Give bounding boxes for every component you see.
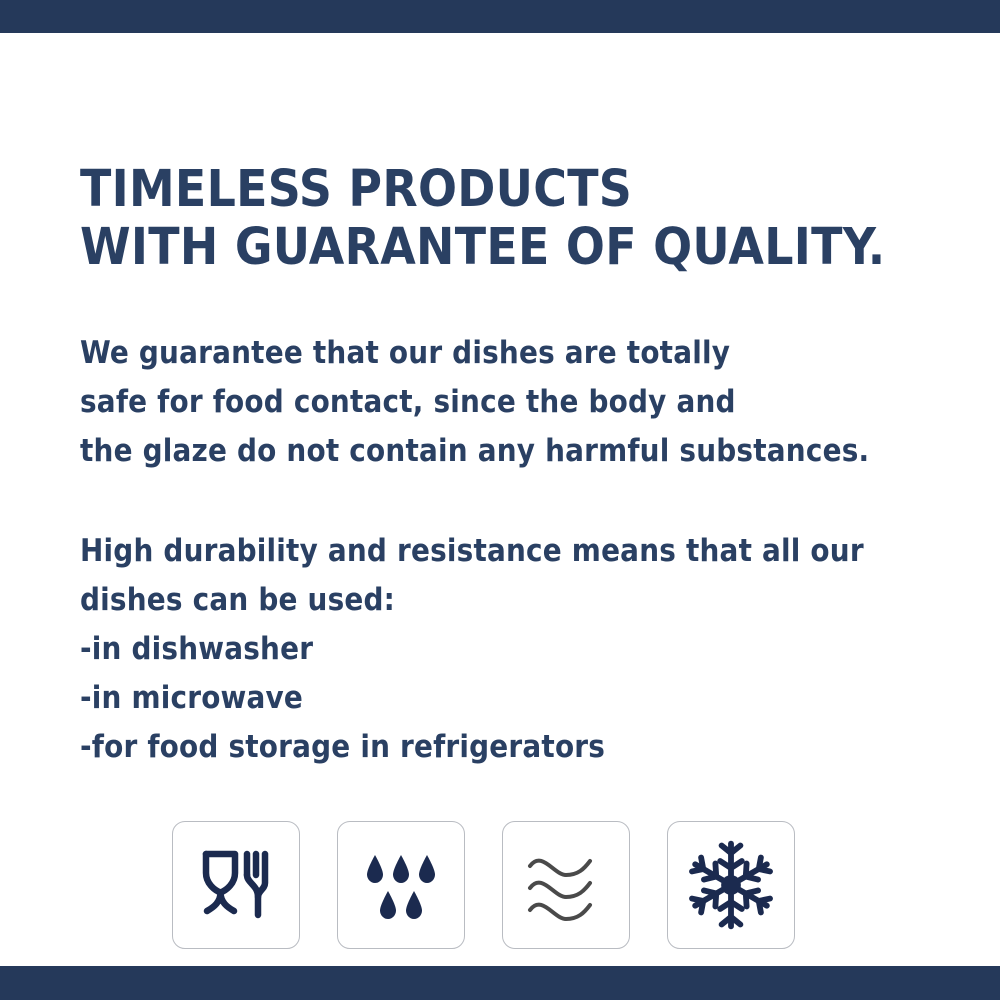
durability-paragraph: High durability and resistance means tha…	[80, 527, 864, 625]
dishwasher-safe-icon-box	[337, 821, 465, 949]
promo-page: TIMELESS PRODUCTS WITH GUARANTEE OF QUAL…	[0, 0, 1000, 1000]
dishwasher-safe-icon	[355, 839, 447, 931]
bottom-accent-bar	[0, 966, 1000, 1000]
freezer-safe-icon	[684, 838, 778, 932]
guarantee-paragraph-line-2: safe for food contact, since the body an…	[80, 378, 869, 427]
usage-list-item-microwave: -in microwave	[80, 674, 605, 723]
page-title: TIMELESS PRODUCTS WITH GUARANTEE OF QUAL…	[80, 161, 886, 277]
freezer-safe-icon-box	[667, 821, 795, 949]
top-accent-bar	[0, 0, 1000, 33]
usage-list: -in dishwasher -in microwave -for food s…	[80, 625, 605, 772]
snowflake-center-hub	[721, 875, 741, 895]
guarantee-paragraph-line-1: We guarantee that our dishes are totally	[80, 329, 869, 378]
microwave-safe-icon	[520, 839, 612, 931]
page-title-line-2: WITH GUARANTEE OF QUALITY.	[80, 219, 886, 277]
page-title-line-1: TIMELESS PRODUCTS	[80, 161, 886, 219]
usage-list-item-refrigerator: -for food storage in refrigerators	[80, 723, 605, 772]
durability-paragraph-line-1: High durability and resistance means tha…	[80, 527, 864, 576]
symbol-row	[172, 821, 795, 949]
guarantee-paragraph: We guarantee that our dishes are totally…	[80, 329, 869, 476]
usage-list-item-dishwasher: -in dishwasher	[80, 625, 605, 674]
page-content: TIMELESS PRODUCTS WITH GUARANTEE OF QUAL…	[0, 33, 1000, 1000]
microwave-safe-icon-box	[502, 821, 630, 949]
guarantee-paragraph-line-3: the glaze do not contain any harmful sub…	[80, 427, 869, 476]
food-safe-icon-box	[172, 821, 300, 949]
food-safe-icon	[190, 839, 282, 931]
durability-paragraph-line-2: dishes can be used:	[80, 576, 864, 625]
